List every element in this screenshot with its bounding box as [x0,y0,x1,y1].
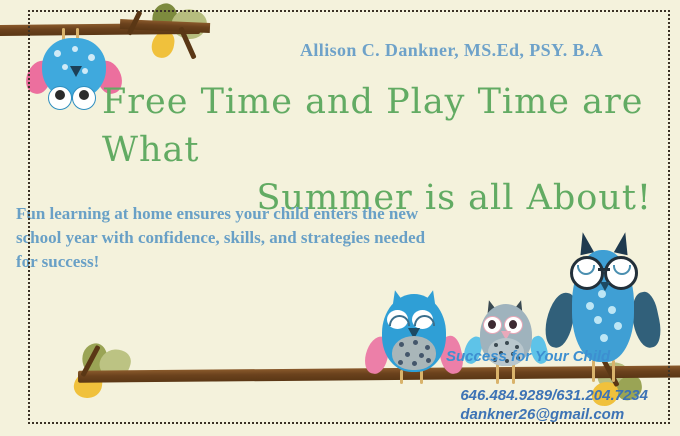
contact-block: 646.484.9289/631.204.7234 dankner26@gmai… [460,386,648,424]
email-address[interactable]: dankner26@gmail.com [460,405,648,424]
body-line-2: school year with confidence, skills, and… [16,226,516,250]
phone-number[interactable]: 646.484.9289/631.204.7234 [460,386,648,405]
owl-leg [512,364,515,384]
owl-eye [483,316,502,334]
body-line-3: for success! [16,250,516,274]
owl-ear [614,231,632,255]
owl-leg [496,364,499,384]
owl-belly [392,336,436,370]
page-title: Free Time and Play Time are What Summer … [38,78,658,222]
sleeping-owl-icon [368,292,460,388]
flyer-canvas: Allison C. Dankner, MS.Ed, PSY. B.A Free… [0,0,680,436]
owl-leg [612,360,615,382]
owl-leg [420,370,423,384]
author-byline: Allison C. Dankner, MS.Ed, PSY. B.A [300,40,603,61]
headline-line-1: Free Time and Play Time are What [38,78,658,174]
owl-beak [70,66,82,77]
owl-beak [600,282,610,291]
small-gray-owl-icon [468,300,544,388]
body-paragraph: Fun learning at home ensures your child … [16,202,516,274]
body-line-1: Fun learning at home ensures your child … [16,202,516,226]
owl-ear [576,231,594,255]
tagline: Success for Your Child [446,348,610,365]
owl-leg [400,370,403,384]
